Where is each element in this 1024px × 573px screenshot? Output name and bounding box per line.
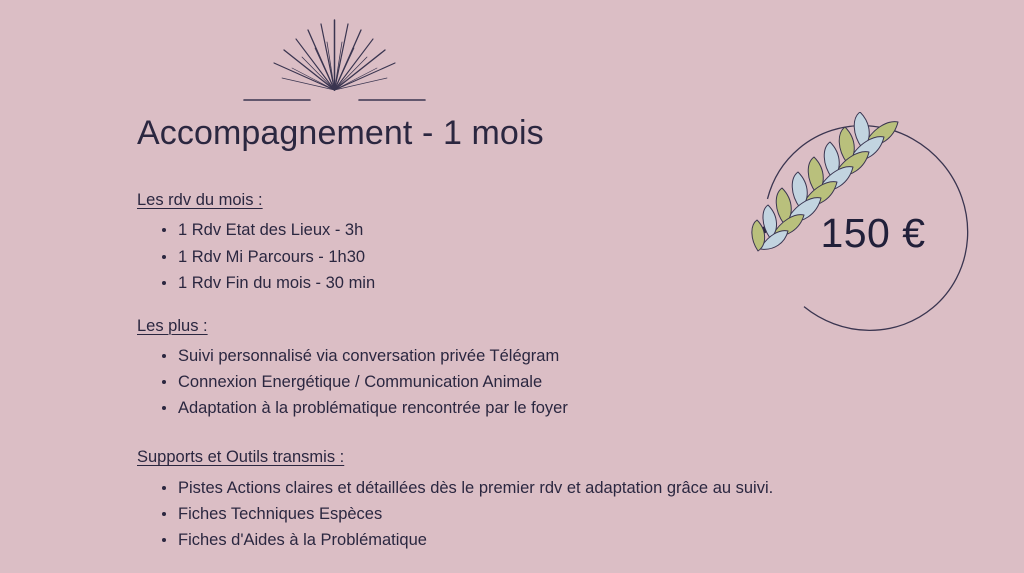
price-badge: 150 € xyxy=(748,112,984,344)
list-item-label: Connexion Energétique / Communication An… xyxy=(178,373,542,391)
list-item-label: Adaptation à la problématique rencontrée… xyxy=(178,399,568,417)
bullet-dot-icon xyxy=(162,255,166,259)
page-title: Accompagnement - 1 mois xyxy=(137,115,544,152)
bullet-list: Suivi personnalisé via conversation priv… xyxy=(137,343,867,421)
bullet-dot-icon xyxy=(162,512,166,516)
bullet-dot-icon xyxy=(162,406,166,410)
section-supports: Supports et Outils transmis : Pistes Act… xyxy=(137,447,867,553)
list-item: Suivi personnalisé via conversation priv… xyxy=(162,343,867,369)
list-item: Connexion Energétique / Communication An… xyxy=(162,369,867,395)
bullet-dot-icon xyxy=(162,354,166,358)
list-item: Adaptation à la problématique rencontrée… xyxy=(162,395,867,421)
bullet-dot-icon xyxy=(162,486,166,490)
list-item: Fiches d'Aides à la Problématique xyxy=(162,527,867,553)
list-item-label: Suivi personnalisé via conversation priv… xyxy=(178,347,559,365)
list-item-label: Fiches Techniques Espèces xyxy=(178,505,382,523)
list-item-label: Pistes Actions claires et détaillées dès… xyxy=(178,479,773,497)
bullet-dot-icon xyxy=(162,281,166,285)
list-item: Pistes Actions claires et détaillées dès… xyxy=(162,475,867,501)
bullet-list: Pistes Actions claires et détaillées dès… xyxy=(137,475,867,553)
list-item-label: Fiches d'Aides à la Problématique xyxy=(178,531,427,549)
list-item-label: 1 Rdv Etat des Lieux - 3h xyxy=(178,221,363,239)
list-item: Fiches Techniques Espèces xyxy=(162,501,867,527)
list-item-label: 1 Rdv Fin du mois - 30 min xyxy=(178,274,375,292)
list-item-label: 1 Rdv Mi Parcours - 1h30 xyxy=(178,248,365,266)
section-heading: Supports et Outils transmis : xyxy=(137,447,867,468)
bullet-dot-icon xyxy=(162,228,166,232)
poster-canvas: Accompagnement - 1 mois Les rdv du mois … xyxy=(0,0,1024,570)
bullet-dot-icon xyxy=(162,538,166,542)
bullet-dot-icon xyxy=(162,380,166,384)
sunburst-ornament xyxy=(232,12,437,108)
